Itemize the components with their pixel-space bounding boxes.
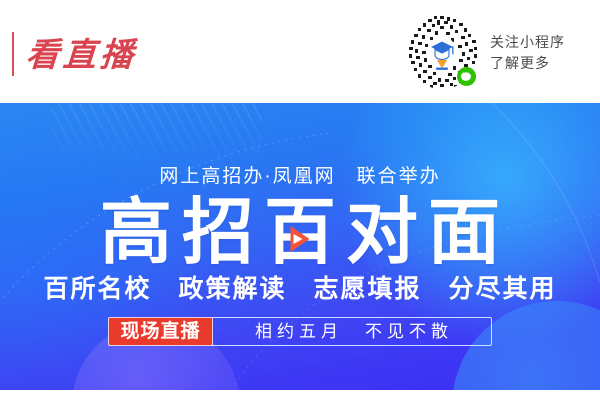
wechat-badge-icon (457, 67, 476, 86)
qrcode-caption-line2: 了解更多 (490, 56, 565, 70)
live-badge[interactable]: 现场直播 (108, 317, 213, 346)
banner-headline: 高 招 百 对 面 (0, 199, 600, 265)
graduation-cap-icon (431, 42, 454, 70)
play-triangle-icon[interactable] (290, 226, 309, 252)
banner-tagline: 百所名校 政策解读 志愿填报 分尽其用 (0, 277, 600, 302)
site-header: 看直播 (0, 0, 600, 103)
live-info-bar[interactable]: 现场直播 相约五月 不见不散 (108, 317, 492, 346)
headline-char-1: 高 (100, 199, 172, 265)
qrcode-image[interactable] (404, 14, 480, 90)
headline-char-2: 招 (182, 199, 254, 265)
logo-divider-bar (12, 32, 14, 76)
miniprogram-qr-block[interactable]: 关注小程序 了解更多 (404, 14, 565, 90)
live-stream-promo-banner-page: 看直播 (0, 0, 600, 400)
site-logo[interactable]: 看直播 (12, 30, 137, 78)
logo-text: 看直播 (25, 38, 138, 71)
banner-hatch-texture (52, 103, 262, 169)
qrcode-caption-line1: 关注小程序 (490, 35, 565, 49)
live-slogan: 相约五月 不见不散 (213, 318, 491, 345)
promo-banner[interactable]: 网上高招办·凤凰网 联合举办 高 招 百 对 面 百所名校 政策解读 志愿填报 … (0, 103, 600, 390)
banner-subtitle: 网上高招办·凤凰网 联合举办 (0, 167, 600, 186)
qrcode-caption: 关注小程序 了解更多 (490, 35, 565, 70)
footer-strip (0, 390, 600, 400)
headline-char-5: 面 (428, 199, 500, 265)
headline-char-4: 对 (346, 199, 418, 265)
headline-char-3-play[interactable]: 百 (264, 199, 336, 265)
